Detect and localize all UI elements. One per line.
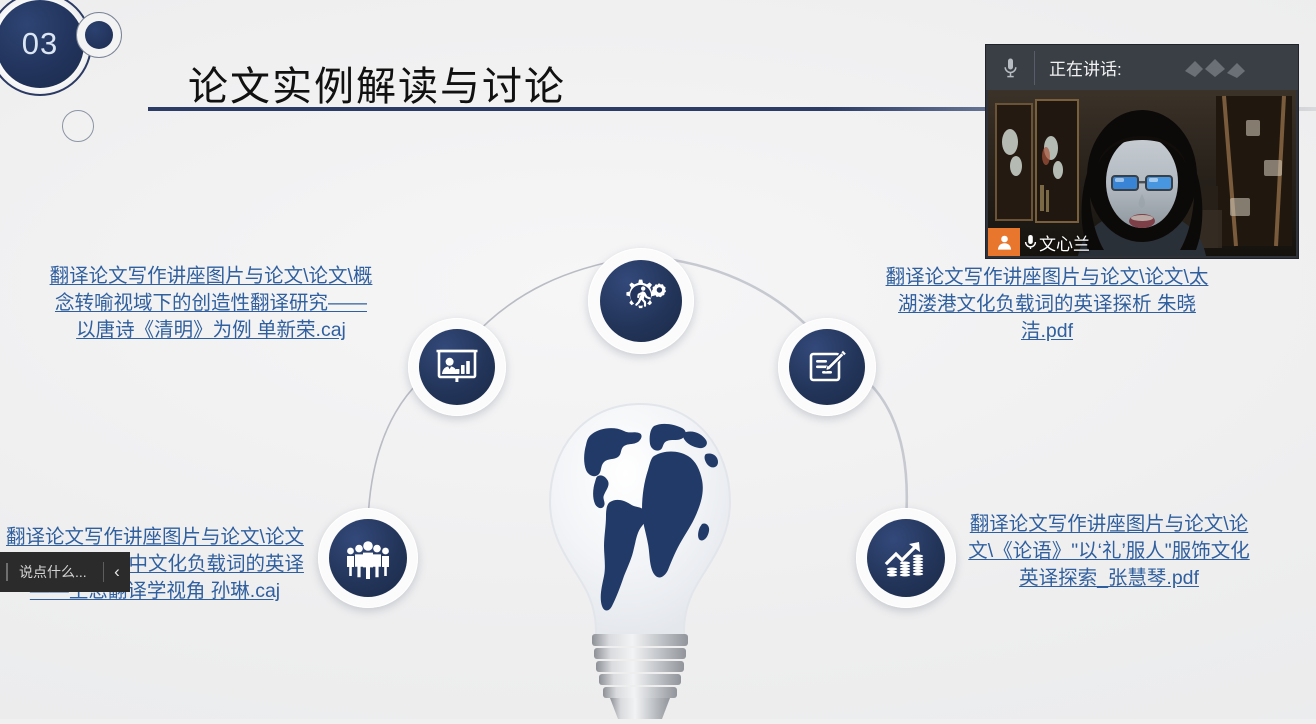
node-growth-coins[interactable] <box>856 508 956 608</box>
growth-coins-icon <box>883 536 929 580</box>
document-link-top-left[interactable]: 翻译论文写作讲座图片与论文\论文\概念转喻视域下的创造性翻译研究——以唐诗《清明… <box>46 263 376 344</box>
page-title: 论文实例解读与讨论 <box>188 54 566 112</box>
node-people-group-inner <box>329 519 407 597</box>
node-gear-person-inner <box>600 260 682 342</box>
lightbulb-globe-icon <box>536 398 744 719</box>
microphone-small-icon <box>1024 234 1037 251</box>
node-presentation-chart[interactable] <box>408 318 506 416</box>
node-document-pen-inner <box>789 329 865 405</box>
section-number-badge: 03 <box>0 0 108 112</box>
document-link-bottom-right[interactable]: 翻译论文写作讲座图片与论文\论文\《论语》"以‘礼’服人"服饰文化英译探索_张慧… <box>964 511 1254 592</box>
presentation-chart-icon <box>434 344 480 390</box>
participant-video-feed[interactable]: 文心兰 <box>988 90 1296 256</box>
node-growth-coins-inner <box>867 519 945 597</box>
presentation-slide: 03 论文实例解读与讨论 <box>0 0 1316 719</box>
chat-input-bar[interactable]: 说点什么... ‹ <box>0 552 130 592</box>
document-pen-icon <box>804 344 850 390</box>
badge-small-ring <box>62 110 94 142</box>
video-panel-header: 正在讲话: <box>986 45 1298 90</box>
chevron-left-icon[interactable]: ‹ <box>104 562 130 582</box>
node-document-pen[interactable] <box>778 318 876 416</box>
participant-name-bar: 文心兰 <box>988 228 1090 256</box>
microphone-icon <box>986 57 1034 79</box>
audio-waveform-icon <box>1181 57 1251 79</box>
node-gear-person[interactable] <box>588 248 694 354</box>
participant-name: 文心兰 <box>1024 230 1090 255</box>
chat-caret <box>6 563 15 581</box>
node-presentation-chart-inner <box>419 329 495 405</box>
chat-input-placeholder[interactable]: 说点什么... <box>15 562 103 582</box>
gear-person-icon <box>616 276 666 326</box>
video-header-divider <box>1034 51 1035 85</box>
badge-accent-dot <box>85 21 113 49</box>
participant-name-text: 文心兰 <box>1039 230 1090 255</box>
node-people-group[interactable] <box>318 508 418 608</box>
people-group-icon <box>344 536 392 580</box>
video-conference-panel[interactable]: 正在讲话: <box>986 45 1298 258</box>
section-number: 03 <box>0 0 84 88</box>
speaking-status-label: 正在讲话: <box>1049 55 1122 80</box>
person-avatar-icon <box>988 228 1020 256</box>
document-link-top-right[interactable]: 翻译论文写作讲座图片与论文\论文\太湖溇港文化负载词的英译探析 朱晓洁.pdf <box>884 264 1210 345</box>
